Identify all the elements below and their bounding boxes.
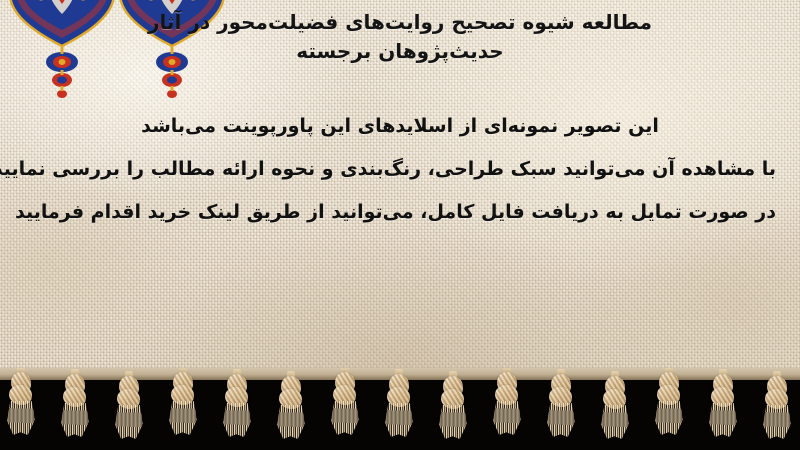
tassel-threads <box>763 405 791 439</box>
carpet-tassel-fringe <box>0 368 800 450</box>
tassel <box>220 372 254 438</box>
tassel-threads <box>439 405 467 439</box>
tassel-threads <box>169 401 197 435</box>
tassel <box>706 372 740 438</box>
presentation-slide: مطالعه شیوه تصحیح روایت‌های فضیلت‌محور د… <box>0 0 800 450</box>
tassel-threads <box>655 401 683 435</box>
slide-body-text: این تصویر نمونه‌ای از اسلایدهای این پاور… <box>0 105 800 233</box>
tassel-threads <box>223 403 251 437</box>
tassel <box>598 374 632 440</box>
slide-title-line-1: مطالعه شیوه تصحیح روایت‌های فضیلت‌محور د… <box>30 8 770 37</box>
tassel <box>328 370 362 436</box>
tassel <box>436 374 470 440</box>
tassel-threads <box>385 403 413 437</box>
tassel <box>274 374 308 440</box>
tassel <box>112 374 146 440</box>
tassel <box>4 370 38 436</box>
tassel-threads <box>547 403 575 437</box>
tassel-threads <box>7 401 35 435</box>
tassel-threads <box>115 405 143 439</box>
slide-body-line-1: این تصویر نمونه‌ای از اسلایدهای این پاور… <box>24 105 776 148</box>
slide-body-line-3: در صورت تمایل به دریافت فایل کامل، می‌تو… <box>24 191 776 234</box>
tassel-threads <box>331 401 359 435</box>
tassel <box>382 372 416 438</box>
tassel <box>544 372 578 438</box>
tassel-threads <box>61 403 89 437</box>
tassel-threads <box>493 401 521 435</box>
tassel-threads <box>277 405 305 439</box>
slide-body-line-2: با مشاهده آن می‌توانید سبک طراحی، رنگ‌بن… <box>24 148 776 191</box>
tassel <box>58 372 92 438</box>
tassel <box>490 370 524 436</box>
slide-title-line-2: حدیث‌پژوهان برجسته <box>30 37 770 66</box>
tassel-threads <box>709 403 737 437</box>
tassel-threads <box>601 405 629 439</box>
slide-title: مطالعه شیوه تصحیح روایت‌های فضیلت‌محور د… <box>0 8 800 66</box>
tassel <box>166 370 200 436</box>
tassel <box>760 374 794 440</box>
tassel <box>652 370 686 436</box>
